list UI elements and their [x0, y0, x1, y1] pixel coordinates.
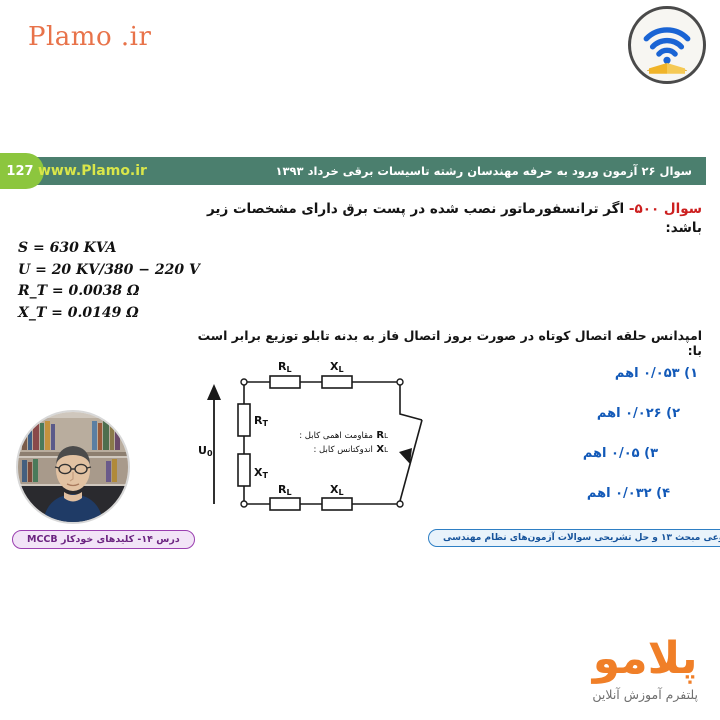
footer-logo: پلامو پلتفرم آموزش آنلاین	[592, 637, 698, 702]
label-r-t: RT	[254, 414, 268, 428]
page-root: Plamo .ir 127 www.Plamo.ir سوال ۲۶ آزمون…	[0, 0, 720, 720]
circuit-diagram: U0 RT XT RL XL RL XL : مقاومت اهمی کابل …	[196, 356, 432, 516]
label-r-l-bottom: RL	[278, 483, 292, 497]
instructor-photo	[16, 410, 130, 524]
circuit-svg: U0 RT XT RL XL RL XL : مقاومت اهمی کابل …	[196, 356, 432, 516]
node-bottom-left	[241, 501, 247, 507]
header-site-label: www.Plamo.ir	[38, 157, 147, 185]
question-line: سوال ۵۰۰- اگر ترانسفورماتور نصب شده در پ…	[182, 200, 702, 238]
question-number: سوال ۵۰۰-	[629, 201, 702, 217]
answer-options: ۱) ۰/۰۵۳ اهم ۲) ۰/۰۲۶ اهم ۳) ۰/۰۵ اهم ۴)…	[478, 366, 698, 526]
wifi-book-icon	[631, 9, 703, 81]
label-x-t: XT	[254, 466, 268, 480]
course-badge: آموزش موضوعی مبحث ۱۳ و حل تشریحی سوالات …	[428, 529, 720, 547]
header-bar: 127 www.Plamo.ir سوال ۲۶ آزمون ورود به ح…	[0, 157, 706, 185]
node-bottom-right	[397, 501, 403, 507]
question-text: اگر ترانسفورماتور نصب شده در پست برق دار…	[207, 201, 702, 236]
option-3[interactable]: ۳) ۰/۰۵ اهم	[478, 446, 698, 461]
label-r-l-top: RL	[278, 360, 292, 374]
footer-logo-main: پلامو	[592, 637, 698, 681]
component-x-t	[238, 454, 250, 486]
footer-logo-sub: پلتفرم آموزش آنلاین	[592, 687, 698, 702]
label-x-l-bottom: XL	[330, 483, 344, 497]
node-top-left	[241, 379, 247, 385]
source-arrow	[207, 384, 221, 504]
component-r-l-top	[270, 376, 300, 388]
component-x-l-bottom	[322, 498, 352, 510]
fault-arrow-head	[399, 448, 412, 464]
legend-x-l: : اندوکتانس کابل XL	[313, 444, 388, 455]
component-r-l-bottom	[270, 498, 300, 510]
transformer-specs: S = 630 KVA U = 20 KV/380 − 220 V R_T = …	[18, 238, 200, 325]
option-2[interactable]: ۲) ۰/۰۲۶ اهم	[478, 406, 698, 421]
question-prompt: امپدانس حلقه اتصال کوتاه در صورت بروز ات…	[182, 328, 702, 358]
node-top-right	[397, 379, 403, 385]
lesson-badge: درس ۱۴- کلیدهای خودکار MCCB	[12, 530, 195, 549]
component-x-l-top	[322, 376, 352, 388]
fault-diagonal	[400, 420, 422, 501]
legend-r-l: : مقاومت اهمی کابل RL	[299, 430, 388, 441]
option-1[interactable]: ۱) ۰/۰۵۳ اهم	[478, 366, 698, 381]
fault-notch	[400, 385, 422, 420]
label-source: U0	[198, 444, 213, 458]
header-title: سوال ۲۶ آزمون ورود به حرفه مهندسان رشته …	[275, 157, 692, 185]
brand-logo	[628, 6, 706, 84]
component-r-t	[238, 404, 250, 436]
label-x-l-top: XL	[330, 360, 344, 374]
portrait-illustration	[18, 412, 128, 522]
option-4[interactable]: ۴) ۰/۰۳۲ اهم	[478, 486, 698, 501]
watermark-text: Plamo .ir	[28, 22, 151, 52]
